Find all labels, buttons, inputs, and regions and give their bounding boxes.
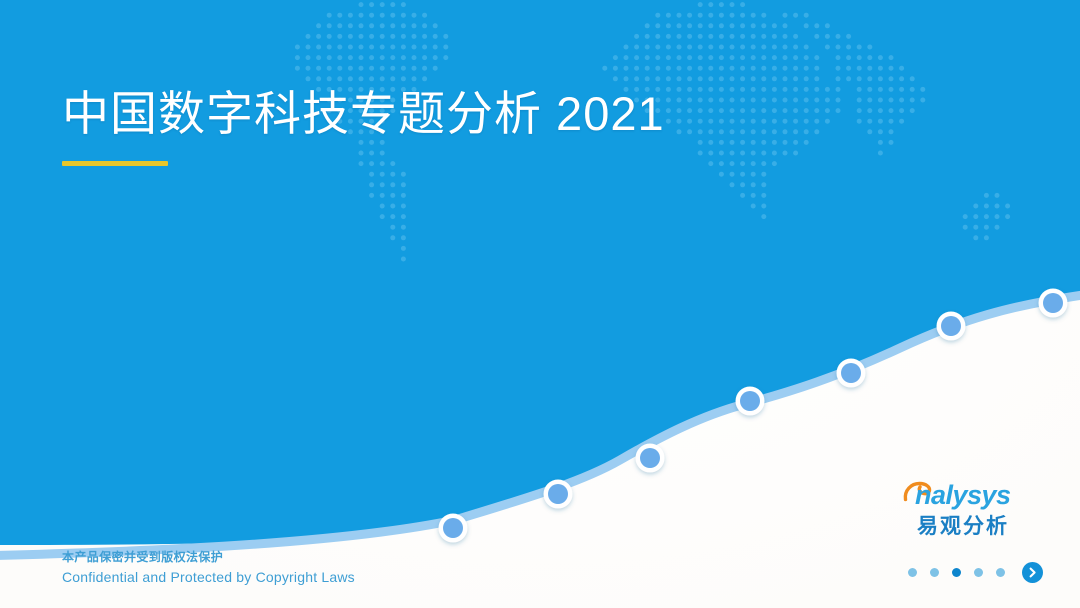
page-indicator[interactable] <box>908 562 1043 583</box>
logo-chinese-name: 易观分析 <box>893 514 1033 540</box>
title-block: 中国数字科技专题分析 2021 <box>62 84 962 166</box>
confidential-note-cn: 本产品保密并受到版权法保护 <box>62 548 355 566</box>
slide-cover: 中国数字科技专题分析 2021 本产品保密并受到版权法保护 Confidenti… <box>0 0 1080 608</box>
logo-wordmark: nalysys <box>915 478 1011 512</box>
pager-dot[interactable] <box>908 568 917 577</box>
pager-dot[interactable] <box>996 568 1005 577</box>
page-title: 中国数字科技专题分析 2021 <box>62 84 962 144</box>
logo-wordmark-wrap: nalysys <box>893 478 1033 512</box>
analysys-logo: nalysys 易观分析 <box>893 478 1033 540</box>
confidential-note-en: Confidential and Protected by Copyright … <box>62 566 355 588</box>
confidential-note: 本产品保密并受到版权法保护 Confidential and Protected… <box>62 548 355 588</box>
pager-dot[interactable] <box>974 568 983 577</box>
next-slide-button[interactable] <box>1022 562 1043 583</box>
chevron-right-icon <box>1027 567 1038 578</box>
pager-dot-active[interactable] <box>952 568 961 577</box>
title-accent-bar <box>62 161 168 166</box>
pager-dot[interactable] <box>930 568 939 577</box>
